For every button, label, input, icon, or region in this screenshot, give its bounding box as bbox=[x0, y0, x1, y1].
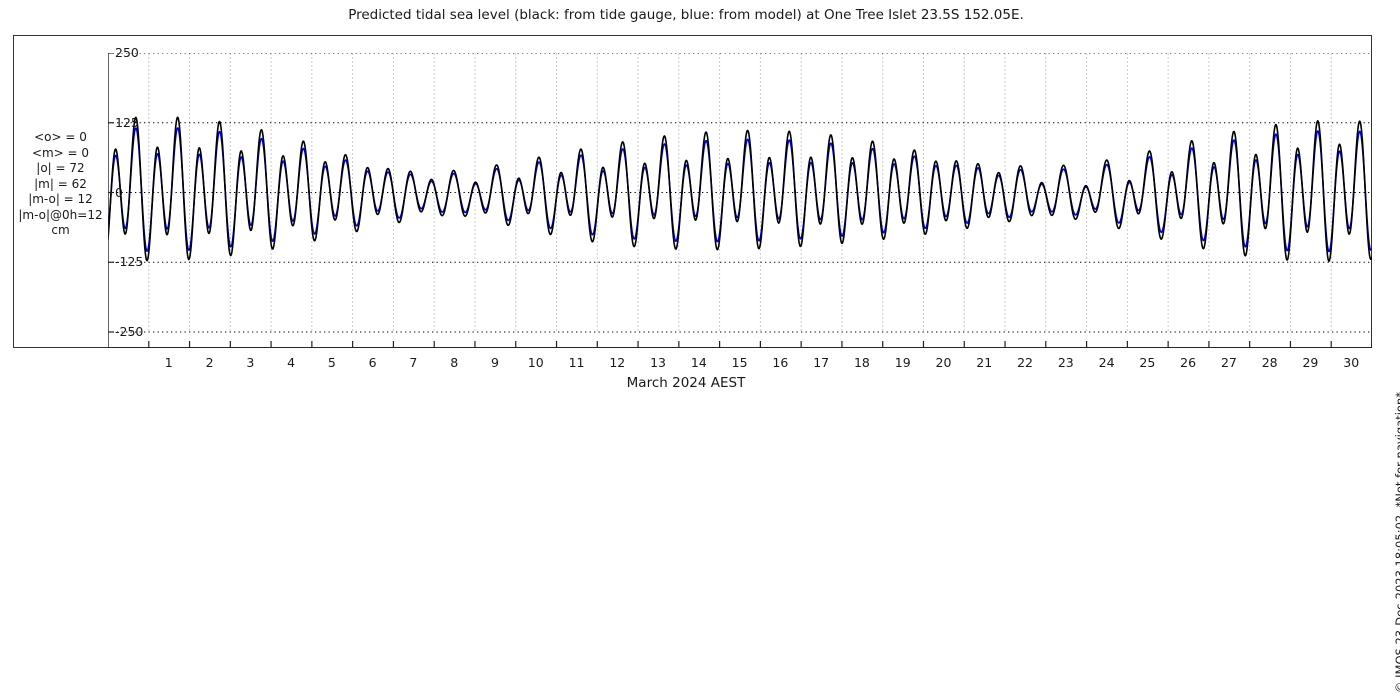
x-tick-label: 10 bbox=[528, 355, 544, 370]
stat-line-rms-diff: |m-o| = 12 bbox=[13, 192, 108, 208]
statistics-block: <o> = 0 <m> = 0 |o| = 72 |m| = 62 |m-o| … bbox=[13, 130, 108, 239]
x-tick-label: 25 bbox=[1139, 355, 1155, 370]
x-tick-label: 23 bbox=[1058, 355, 1074, 370]
copyright-credit: © IMOS 23-Dec-2023 18:05:02. *Not for na… bbox=[1378, 0, 1398, 400]
x-tick-label: 8 bbox=[450, 355, 458, 370]
tidal-timeseries-svg bbox=[108, 53, 1372, 348]
x-tick-label: 3 bbox=[246, 355, 254, 370]
x-tick-label: 20 bbox=[936, 355, 952, 370]
stat-line-mean-obs: <o> = 0 bbox=[13, 130, 108, 146]
stat-line-mean-model: <m> = 0 bbox=[13, 146, 108, 162]
x-tick-label: 26 bbox=[1180, 355, 1196, 370]
x-tick-label: 28 bbox=[1262, 355, 1278, 370]
stat-line-rms-obs: |o| = 72 bbox=[13, 161, 108, 177]
x-tick-label: 9 bbox=[491, 355, 499, 370]
x-tick-label: 16 bbox=[772, 355, 788, 370]
x-tick-label: 15 bbox=[732, 355, 748, 370]
x-tick-label: 12 bbox=[609, 355, 625, 370]
x-axis-title: March 2024 AEST bbox=[0, 375, 1372, 391]
credit-text: © IMOS 23-Dec-2023 18:05:02. *Not for na… bbox=[1393, 392, 1400, 693]
stat-line-rms-model: |m| = 62 bbox=[13, 177, 108, 193]
x-tick-label: 22 bbox=[1017, 355, 1033, 370]
plot-area bbox=[108, 53, 1372, 348]
x-tick-label: 4 bbox=[287, 355, 295, 370]
x-tick-label: 1 bbox=[165, 355, 173, 370]
stat-line-diff-at-0h: |m-o|@0h=12 bbox=[13, 208, 108, 224]
chart-title: Predicted tidal sea level (black: from t… bbox=[0, 7, 1372, 23]
y-tick-label: 250 bbox=[115, 45, 139, 60]
x-tick-label: 30 bbox=[1343, 355, 1359, 370]
x-tick-label: 29 bbox=[1302, 355, 1318, 370]
x-tick-label: 6 bbox=[369, 355, 377, 370]
x-tick-label: 19 bbox=[895, 355, 911, 370]
y-tick-label: -250 bbox=[115, 324, 143, 339]
x-tick-label: 7 bbox=[409, 355, 417, 370]
y-tick-label: 0 bbox=[115, 185, 123, 200]
x-tick-label: 21 bbox=[976, 355, 992, 370]
y-tick-label: 125 bbox=[115, 115, 139, 130]
x-tick-label: 13 bbox=[650, 355, 666, 370]
y-tick-label: -125 bbox=[115, 254, 143, 269]
x-tick-label: 27 bbox=[1221, 355, 1237, 370]
x-tick-label: 11 bbox=[569, 355, 585, 370]
stat-line-units: cm bbox=[13, 223, 108, 239]
x-tick-label: 2 bbox=[206, 355, 214, 370]
x-tick-label: 17 bbox=[813, 355, 829, 370]
x-tick-label: 24 bbox=[1099, 355, 1115, 370]
x-tick-label: 14 bbox=[691, 355, 707, 370]
x-tick-label: 18 bbox=[854, 355, 870, 370]
x-tick-label: 5 bbox=[328, 355, 336, 370]
